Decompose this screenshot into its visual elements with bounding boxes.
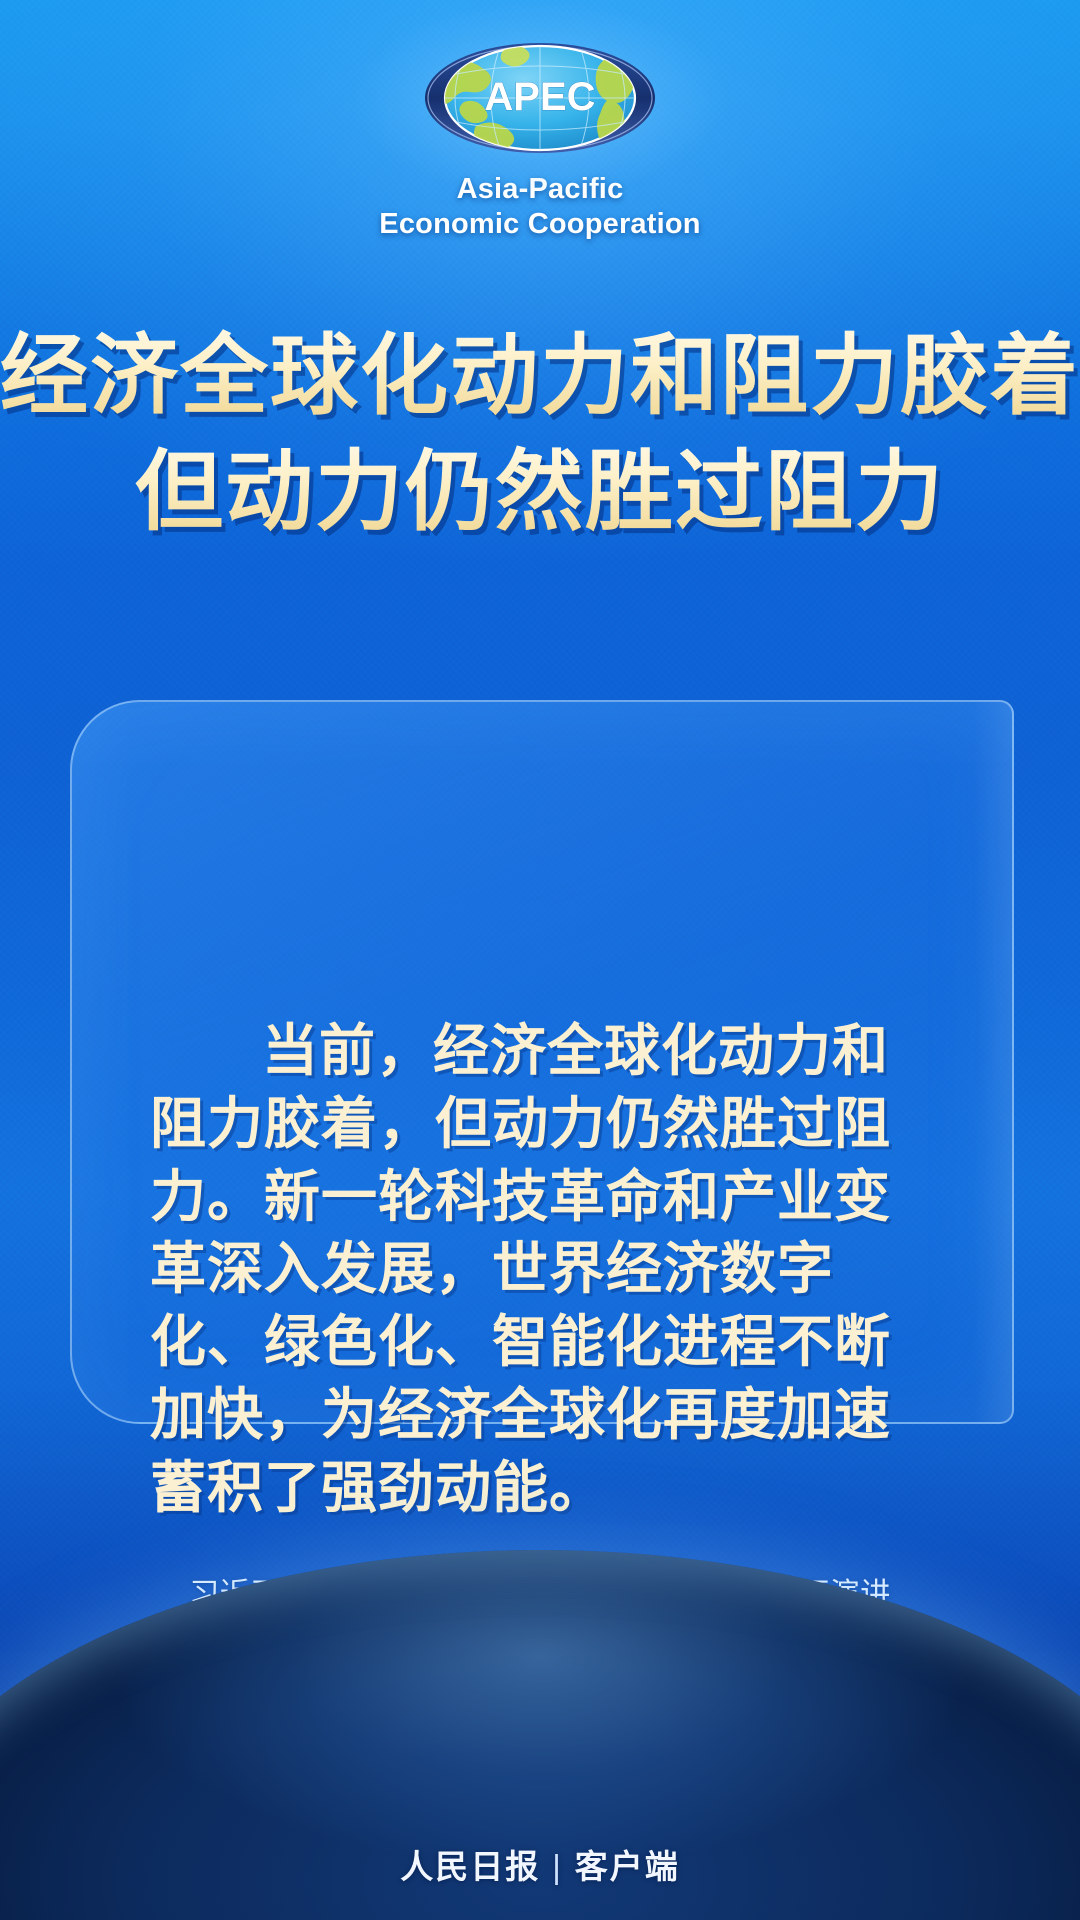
footer-separator: | <box>552 1848 563 1886</box>
apec-acronym-text: APEC <box>484 75 595 119</box>
apec-globe-svg: APEC <box>390 38 690 158</box>
headline-line-2: 但动力仍然胜过阻力 <box>0 434 1080 550</box>
globe-icon: APEC <box>390 38 690 158</box>
headline-line-1: 经济全球化动力和阻力胶着 <box>0 318 1080 434</box>
quote-body-text: 当前，经济全球化动力和阻力胶着，但动力仍然胜过阻力。新一轮科技革命和产业变革深入… <box>150 1015 940 1525</box>
poster-root: APEC Asia-Pacific Economic Cooperation 经… <box>0 0 1080 1920</box>
footer-app-name: 客户端 <box>575 1847 680 1886</box>
footer-publisher-name: 人民日报 <box>400 1847 540 1886</box>
apec-logo-block: APEC Asia-Pacific Economic Cooperation <box>0 38 1080 243</box>
apec-logo-line2: Economic Cooperation <box>0 207 1080 242</box>
footer-branding: 人民日报|客户端 <box>0 1840 1080 1888</box>
headline: 经济全球化动力和阻力胶着 但动力仍然胜过阻力 <box>0 318 1080 550</box>
